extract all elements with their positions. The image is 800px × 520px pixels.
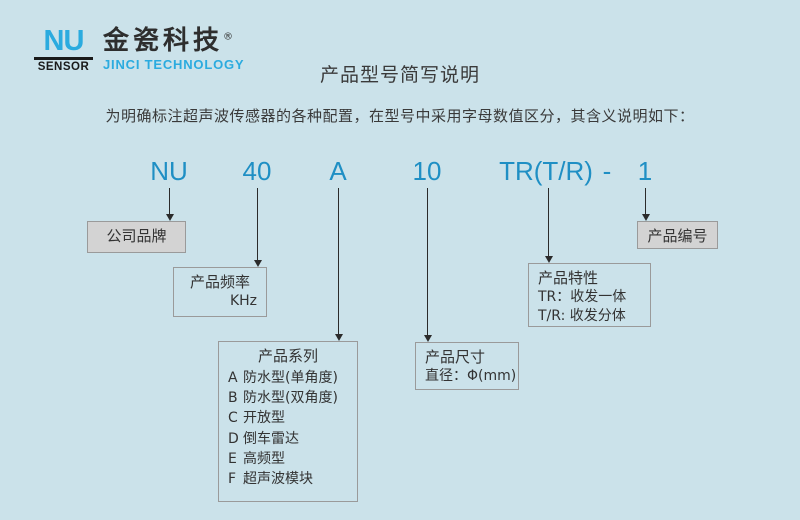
arrow-stem	[548, 188, 549, 257]
logo-chinese-name: 金瓷科技®	[103, 28, 244, 55]
arrow-head-icon	[545, 256, 553, 263]
arrow-head-icon	[166, 214, 174, 221]
callout-title: 公司品牌	[97, 227, 176, 246]
callout-title: 产品系列	[228, 347, 348, 366]
registered-trademark-icon: ®	[223, 31, 237, 42]
callout-line: TR：收发一体	[538, 288, 641, 307]
arrow-stem	[338, 188, 339, 335]
callout-box-product-frequency: 产品频率KHz	[173, 267, 267, 317]
model-code-part: TR(T/R)	[499, 156, 593, 187]
series-option-letter: B	[228, 388, 243, 408]
series-option-label: 开放型	[243, 410, 285, 426]
page-title: 产品型号简写说明	[0, 60, 800, 87]
series-option-label: 防水型(双角度)	[243, 390, 338, 406]
callout-title: 产品频率	[183, 273, 257, 292]
series-option-label: 高频型	[243, 451, 285, 467]
model-code-part: 10	[413, 156, 442, 187]
series-option-letter: D	[228, 429, 243, 449]
series-option-row: F超声波模块	[228, 469, 348, 489]
model-code-part: 40	[243, 156, 272, 187]
series-option-letter: F	[228, 469, 243, 489]
series-option-letter: E	[228, 449, 243, 469]
diagram-page: NU SENSOR 金瓷科技® JINCI TECHNOLOGY 产品型号简写说…	[0, 0, 800, 520]
callout-line: T/R: 收发分体	[538, 307, 641, 326]
arrow-head-icon	[424, 335, 432, 342]
model-code-part: A	[329, 156, 346, 187]
model-code-part: 1	[638, 156, 652, 187]
series-option-row: E高频型	[228, 449, 348, 469]
arrow-head-icon	[254, 260, 262, 267]
model-code-part: -	[603, 156, 612, 187]
arrow-stem	[257, 188, 258, 261]
arrow-stem	[169, 188, 170, 215]
model-code-part: NU	[150, 156, 188, 187]
arrow-head-icon	[335, 334, 343, 341]
callout-box-company-brand: 公司品牌	[87, 221, 186, 253]
series-option-label: 倒车雷达	[243, 431, 299, 447]
callout-title: 产品编号	[647, 227, 708, 246]
callout-line: KHz	[183, 292, 257, 311]
arrow-stem	[427, 188, 428, 336]
arrow-head-icon	[642, 214, 650, 221]
series-option-label: 超声波模块	[243, 471, 313, 487]
callout-line: 直径：Φ(mm)	[425, 367, 509, 386]
arrow-stem	[645, 188, 646, 215]
series-option-row: C开放型	[228, 408, 348, 428]
callout-title: 产品尺寸	[425, 348, 509, 367]
logo-nu-text: NU	[44, 28, 84, 56]
series-option-letter: A	[228, 368, 243, 388]
callout-box-product-size: 产品尺寸直径：Φ(mm)	[415, 342, 519, 390]
series-option-label: 防水型(单角度)	[243, 370, 338, 386]
callout-title: 产品特性	[538, 269, 641, 288]
series-option-row: D倒车雷达	[228, 429, 348, 449]
series-option-row: A防水型(单角度)	[228, 368, 348, 388]
logo-chinese-name-text: 金瓷科技	[103, 26, 223, 56]
callout-box-product-feature: 产品特性TR：收发一体T/R: 收发分体	[528, 263, 651, 327]
callout-box-product-number: 产品编号	[637, 221, 718, 249]
series-option-row: B防水型(双角度)	[228, 388, 348, 408]
callout-box-product-series: 产品系列A防水型(单角度)B防水型(双角度)C开放型D倒车雷达E高频型F超声波模…	[218, 341, 358, 502]
series-option-letter: C	[228, 408, 243, 428]
series-option-list: A防水型(单角度)B防水型(双角度)C开放型D倒车雷达E高频型F超声波模块	[228, 368, 348, 490]
page-subtitle: 为明确标注超声波传感器的各种配置，在型号中采用字母数值区分，其含义说明如下：	[0, 105, 800, 126]
